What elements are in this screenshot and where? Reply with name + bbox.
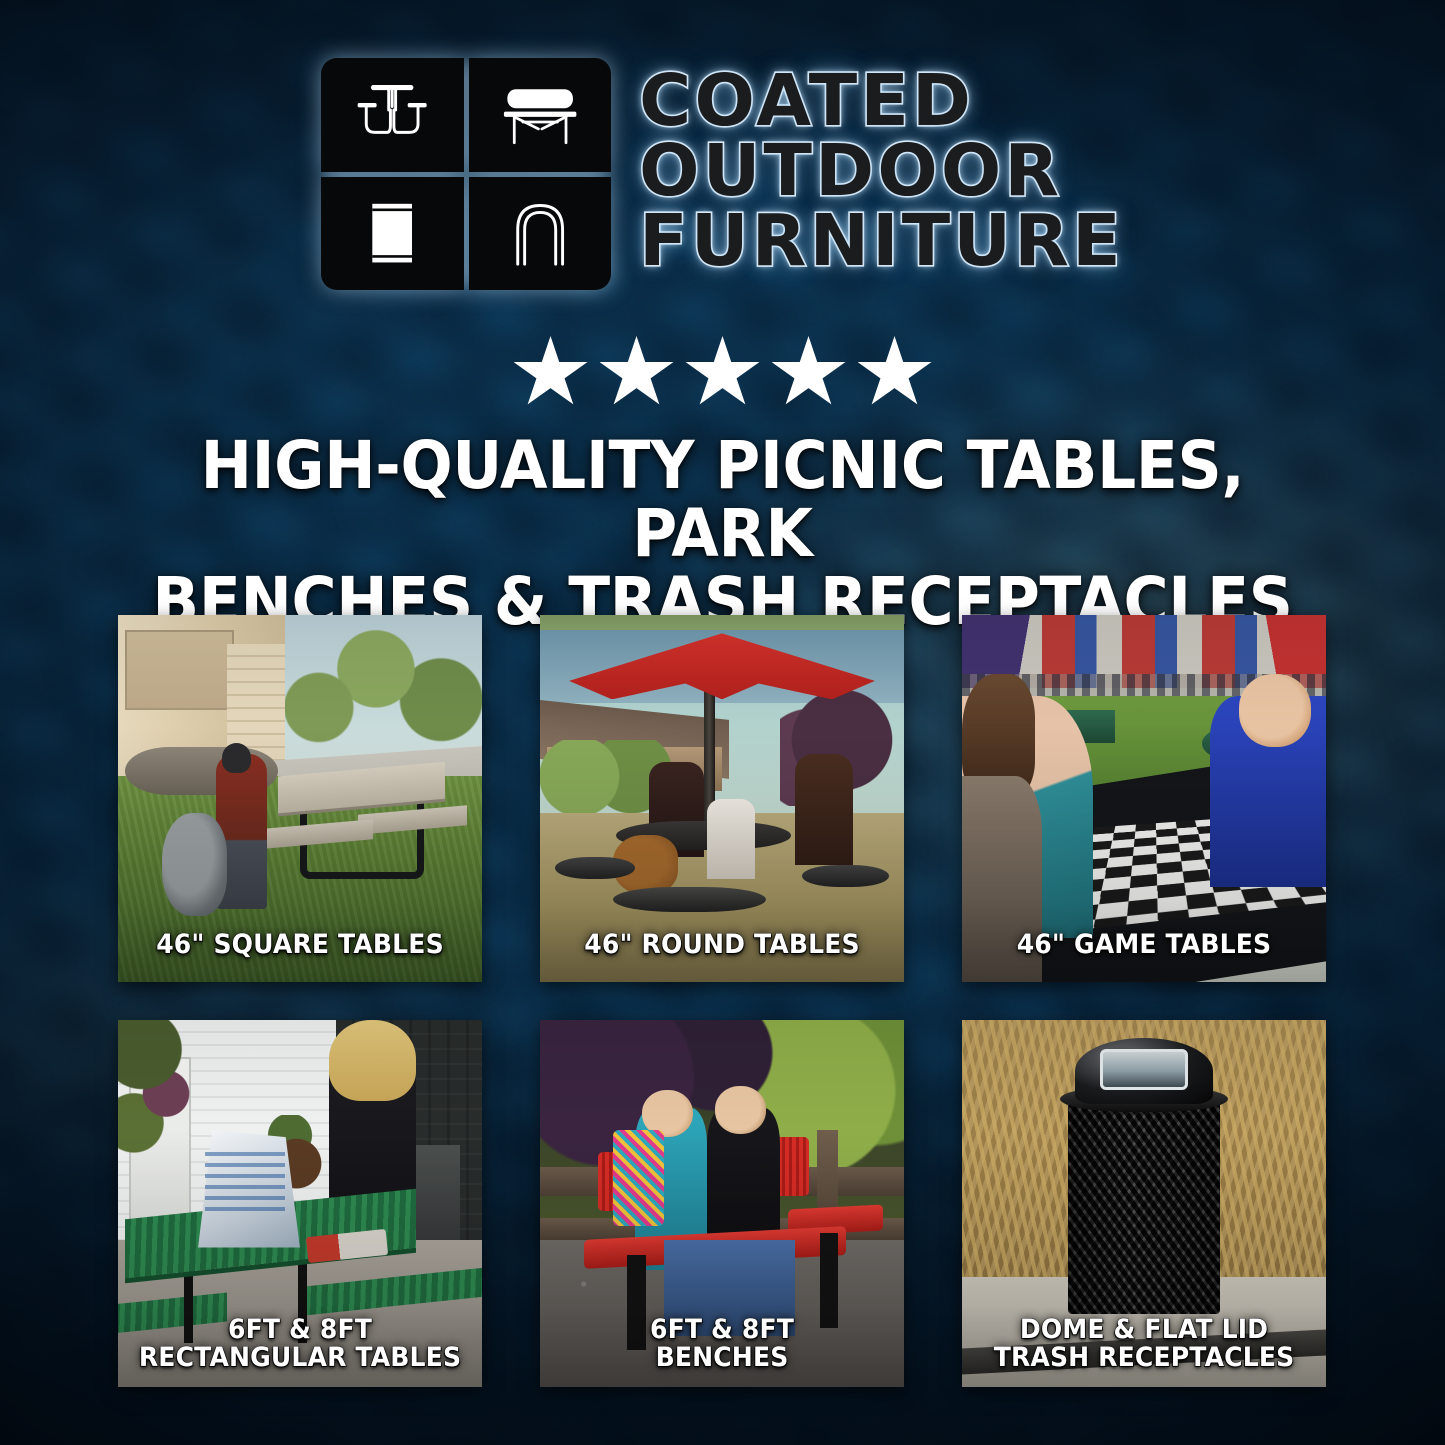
star-icon [772,336,846,410]
product-grid-row-bottom: 6FT & 8FT RECTANGULAR TABLES [118,1020,1326,1387]
product-photo-square-tables [118,615,482,982]
caption-line-1: 46" GAME TABLES [962,931,1326,960]
star-icon [686,336,760,410]
caption-line-1: 6FT & 8FT [540,1316,904,1345]
product-tile-trash-receptacles[interactable]: DOME & FLAT LID TRASH RECEPTACLES [962,1020,1326,1387]
caption-line-2: BENCHES [540,1344,904,1373]
product-tile-game-tables[interactable]: 46" GAME TABLES [962,615,1326,982]
park-bench-icon [469,58,612,172]
caption-line-2: TRASH RECEPTACLES [962,1344,1326,1373]
trash-receptacle-icon [321,177,464,291]
product-photo-game-tables [962,615,1326,982]
star-rating [0,336,1445,410]
caption-line-1: 46" ROUND TABLES [540,931,904,960]
product-caption: DOME & FLAT LID TRASH RECEPTACLES [962,1316,1326,1373]
star-icon [858,336,932,410]
logo-word-coated: COATED [639,67,974,135]
product-tile-rectangular-tables[interactable]: 6FT & 8FT RECTANGULAR TABLES [118,1020,482,1387]
headline-line-1: HIGH-QUALITY PICNIC TABLES, PARK [105,432,1341,568]
product-tile-benches[interactable]: 6FT & 8FT BENCHES [540,1020,904,1387]
product-caption: 46" ROUND TABLES [540,931,904,960]
headline: HIGH-QUALITY PICNIC TABLES, PARK BENCHES… [51,432,1395,636]
brand-logo: COATED OUTDOOR FURNITURE [0,58,1445,290]
caption-line-1: DOME & FLAT LID [962,1316,1326,1345]
logo-wordmark: COATED OUTDOOR FURNITURE [639,67,1124,281]
logo-word-outdoor: OUTDOOR [639,137,1062,205]
bike-rack-icon [469,177,612,291]
logo-icon-grid [321,58,611,290]
product-grid-row-top: 46" SQUARE TABLES [118,615,1326,982]
caption-line-1: 46" SQUARE TABLES [118,931,482,960]
promo-poster: COATED OUTDOOR FURNITURE HIGH-QUALITY PI… [0,0,1445,1445]
product-caption: 6FT & 8FT RECTANGULAR TABLES [118,1316,482,1373]
product-caption: 46" SQUARE TABLES [118,931,482,960]
product-photo-round-tables [540,615,904,982]
star-icon [514,336,588,410]
product-grid: 46" SQUARE TABLES [118,615,1326,1387]
product-caption: 6FT & 8FT BENCHES [540,1316,904,1373]
logo-word-furniture: FURNITURE [639,207,1124,275]
caption-line-1: 6FT & 8FT [118,1316,482,1345]
product-caption: 46" GAME TABLES [962,931,1326,960]
caption-line-2: RECTANGULAR TABLES [118,1344,482,1373]
picnic-table-icon [321,58,464,172]
product-tile-square-tables[interactable]: 46" SQUARE TABLES [118,615,482,982]
star-icon [600,336,674,410]
product-tile-round-tables[interactable]: 46" ROUND TABLES [540,615,904,982]
